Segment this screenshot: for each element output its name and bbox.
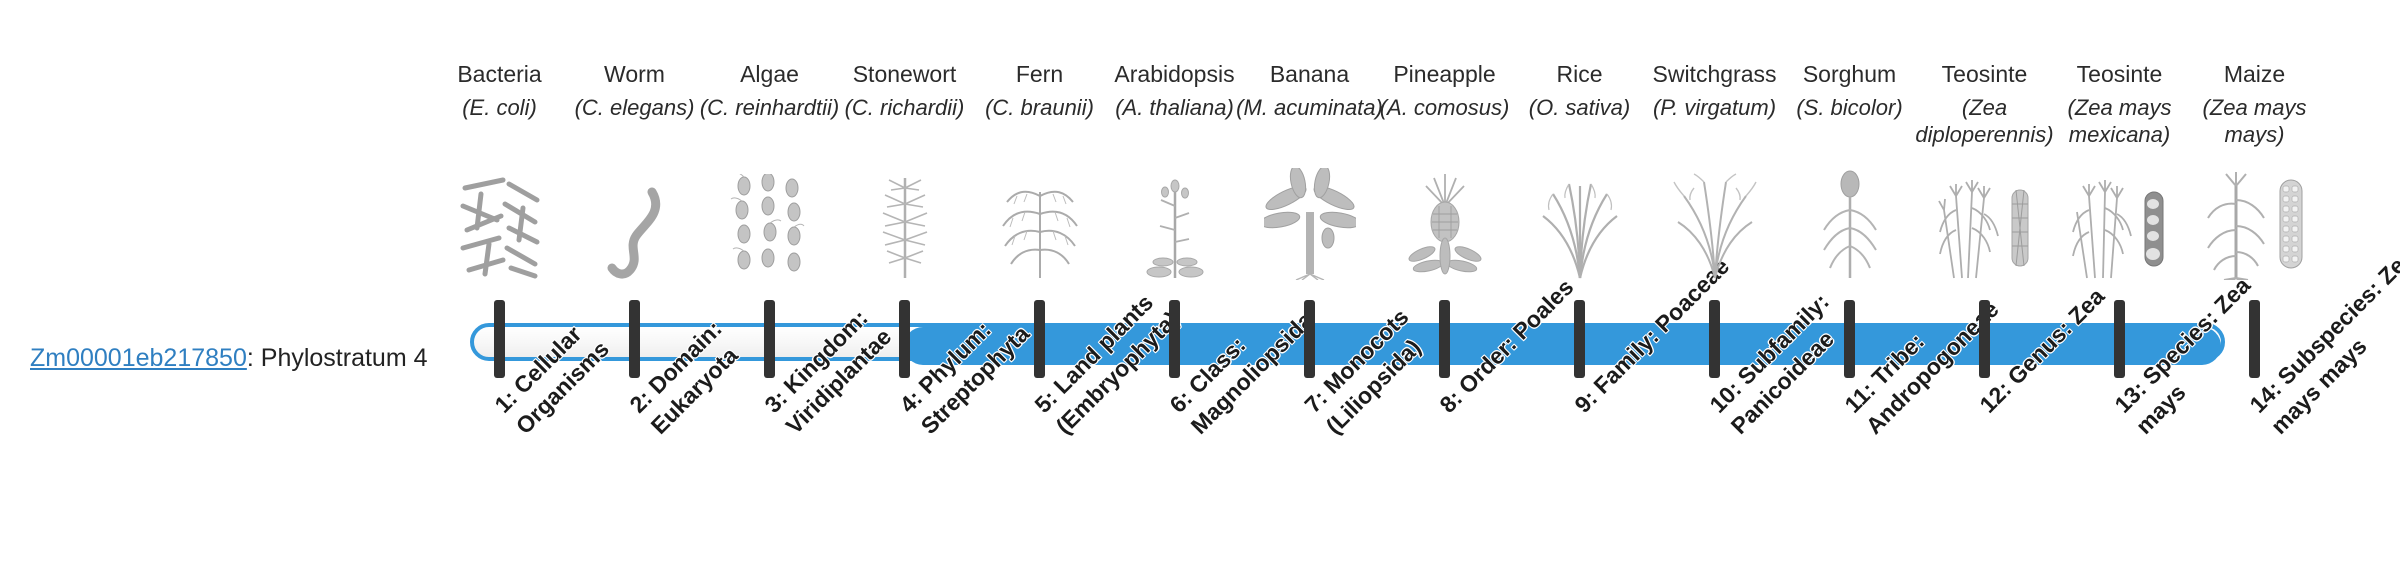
phylostratum-tick[interactable] <box>629 300 640 378</box>
phylostratum-tick[interactable] <box>1169 300 1180 378</box>
phylostratum-tick[interactable] <box>764 300 775 378</box>
bacteria-icon <box>437 168 562 280</box>
phylostratum-tick[interactable] <box>1034 300 1045 378</box>
maize-icon <box>2192 168 2317 280</box>
sorghum-icon <box>1787 168 1912 280</box>
phylostratum-tick[interactable] <box>1844 300 1855 378</box>
phylostratum-tick[interactable] <box>1574 300 1585 378</box>
gene-phylostratum-value: Phylostratum 4 <box>261 344 428 372</box>
switchgrass-icon <box>1652 168 1777 280</box>
phylostratum-tick[interactable] <box>2249 300 2260 378</box>
fern-icon <box>977 168 1102 280</box>
phylostratum-tick[interactable] <box>1709 300 1720 378</box>
algae-icon <box>707 168 832 280</box>
gene-phylostratum-label: Zm00001eb217850: Phylostratum 4 <box>30 340 420 376</box>
gene-label-separator: : <box>247 344 261 372</box>
phylostratum-tick[interactable] <box>899 300 910 378</box>
teosinte-mexicana-icon <box>2057 168 2182 280</box>
pineapple-icon <box>1382 168 1507 280</box>
organism-common-name: Maize <box>2167 60 2342 88</box>
phylostratum-tick[interactable] <box>2114 300 2125 378</box>
gene-id-link[interactable]: Zm00001eb217850 <box>30 344 247 372</box>
phylostratum-diagram: Zm00001eb217850: Phylostratum 4 Bacteria… <box>0 0 2400 580</box>
phylostratum-column: Maize(Zea mays mays) 14: Subspecies: Zea… <box>2187 0 2322 580</box>
phylostratum-tick[interactable] <box>1304 300 1315 378</box>
banana-plant-icon <box>1247 168 1372 280</box>
rice-plant-icon <box>1517 168 1642 280</box>
stonewort-icon <box>842 168 967 280</box>
arabidopsis-icon <box>1112 168 1237 280</box>
phylostratum-tick[interactable] <box>1439 300 1450 378</box>
organism-scientific-name: (Zea mays mays) <box>2175 94 2334 148</box>
phylostratum-tick[interactable] <box>1979 300 1990 378</box>
worm-icon <box>572 168 697 280</box>
teosinte-icon <box>1922 168 2047 280</box>
phylostratum-tick[interactable] <box>494 300 505 378</box>
